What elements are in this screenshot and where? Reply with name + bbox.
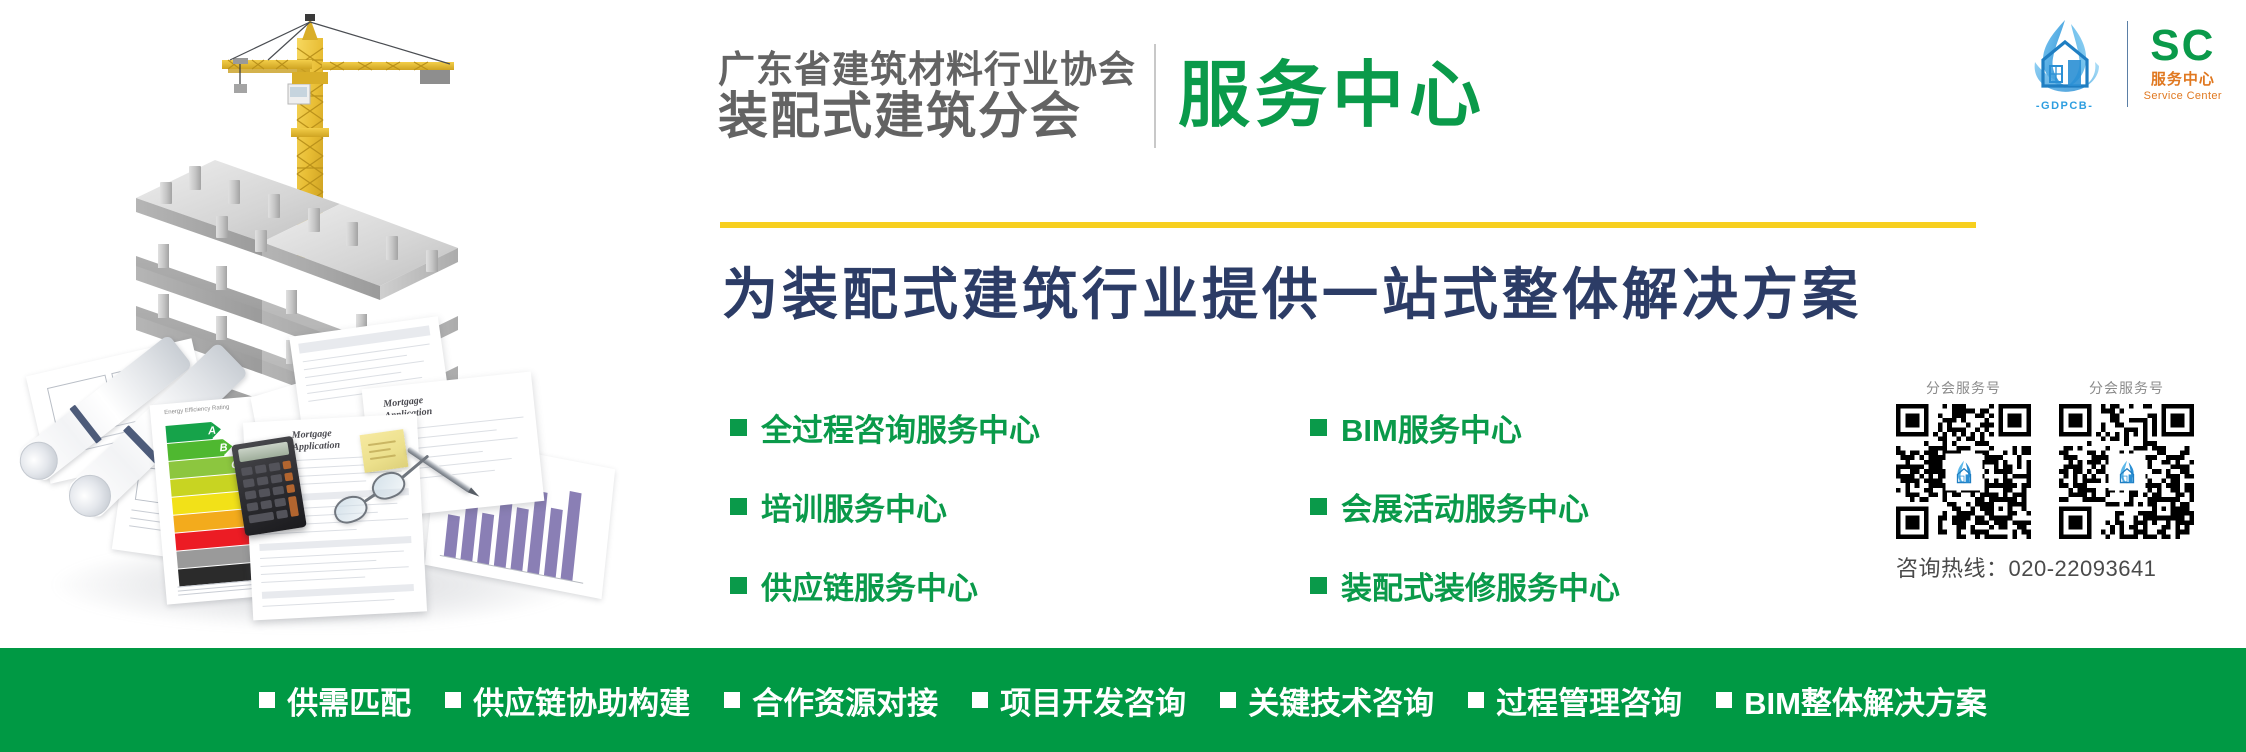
page-title: 为装配式建筑行业提供一站式整体解决方案 [722,250,1862,331]
footer-capability-item[interactable]: BIM整体解决方案 [1716,678,1987,723]
square-bullet-icon [730,419,747,436]
footer-capability-label: 供应链协助构建 [473,678,690,723]
square-bullet-icon [730,498,747,515]
energy-rating-letter: A [208,424,217,437]
footer-capability-item[interactable]: 供应链协助构建 [445,678,690,723]
gdpcb-abbrev: -GDPCB- [2019,100,2111,112]
qr-label: 分会服务号 [1896,378,2031,398]
energy-rating-letter: B [219,441,228,454]
sc-english-label: Service Center [2144,90,2222,102]
service-list-item-label: 全过程咨询服务中心 [761,405,1040,450]
association-name: 广东省建筑材料行业协会 装配式建筑分会 [718,50,1136,142]
construction-hero-illustration: Energy Efficiency Rating ABCDEFGHI [0,0,700,648]
square-bullet-icon [1310,498,1327,515]
qr-labels: 分会服务号 分会服务号 [1896,378,2216,398]
footer-capability-item[interactable]: 供需匹配 [259,678,411,723]
square-bullet-icon [972,692,988,708]
footer-capability-label: 关键技术咨询 [1248,678,1434,723]
gdpcb-logo: -GDPCB- [2019,16,2111,112]
square-bullet-icon [1716,692,1732,708]
square-bullet-icon [1220,692,1236,708]
logo-group: -GDPCB- SC 服务中心 Service Center [2019,16,2222,112]
association-line2: 装配式建筑分会 [718,90,1136,142]
service-list: 全过程咨询服务中心BIM服务中心培训服务中心会展活动服务中心供应链服务中心装配式… [730,405,1620,608]
headline-vertical-divider [1154,44,1156,148]
footer-capability-label: 项目开发咨询 [1000,678,1186,723]
qr-label: 分会服务号 [2059,378,2194,398]
square-bullet-icon [1468,692,1484,708]
service-list-item[interactable]: 培训服务中心 [730,484,1310,529]
sc-chinese-label: 服务中心 [2151,68,2215,89]
service-list-item-label: BIM服务中心 [1341,405,1522,450]
footer-capability-label: 过程管理咨询 [1496,678,1682,723]
footer-capability-label: BIM整体解决方案 [1744,678,1987,723]
service-center-title: 服务中心 [1178,60,1486,132]
footer-capability-label: 合作资源对接 [752,678,938,723]
footer-capability-item[interactable]: 合作资源对接 [724,678,938,723]
footer-capability-label: 供需匹配 [287,678,411,723]
service-list-item[interactable]: 全过程咨询服务中心 [730,405,1310,450]
square-bullet-icon [724,692,740,708]
footer-capability-bar: 供需匹配供应链协助构建合作资源对接项目开发咨询关键技术咨询过程管理咨询BIM整体… [0,648,2246,752]
house-flame-icon-small [2114,459,2140,485]
qr-codes [1896,404,2216,539]
square-bullet-icon [730,577,747,594]
service-list-item[interactable]: BIM服务中心 [1310,405,1620,450]
yellow-divider-rule [720,222,1976,228]
square-bullet-icon [445,692,461,708]
service-list-item-label: 供应链服务中心 [761,563,978,608]
service-list-item[interactable]: 供应链服务中心 [730,563,1310,608]
headline-block: 广东省建筑材料行业协会 装配式建筑分会 服务中心 [718,44,1486,148]
footer-capability-item[interactable]: 关键技术咨询 [1220,678,1434,723]
qr-center-logo [2110,455,2144,489]
qr-code-wechat-service-2[interactable] [2059,404,2194,539]
service-list-item[interactable]: 装配式装修服务中心 [1310,563,1620,608]
house-flame-icon-small [1951,459,1977,485]
footer-capability-item[interactable]: 过程管理咨询 [1468,678,1682,723]
service-center-logo: SC 服务中心 Service Center [2144,26,2222,102]
square-bullet-icon [259,692,275,708]
square-bullet-icon [1310,419,1327,436]
association-line1: 广东省建筑材料行业协会 [718,50,1136,90]
square-bullet-icon [1310,577,1327,594]
qr-code-wechat-service-1[interactable] [1896,404,2031,539]
qr-contact-block: 分会服务号 分会服务号 [1896,378,2216,583]
footer-capability-item[interactable]: 项目开发咨询 [972,678,1186,723]
service-list-item-label: 会展活动服务中心 [1341,484,1589,529]
service-list-item[interactable]: 会展活动服务中心 [1310,484,1620,529]
qr-center-logo [1947,455,1981,489]
promotional-banner: Energy Efficiency Rating ABCDEFGHI [0,0,2246,752]
sc-monogram: SC [2150,26,2215,66]
service-list-item-label: 培训服务中心 [761,484,947,529]
service-list-item-label: 装配式装修服务中心 [1341,563,1620,608]
house-flame-icon [2019,16,2111,96]
hotline-text: 咨询热线：020-22093641 [1896,551,2216,583]
logo-divider [2127,21,2128,107]
